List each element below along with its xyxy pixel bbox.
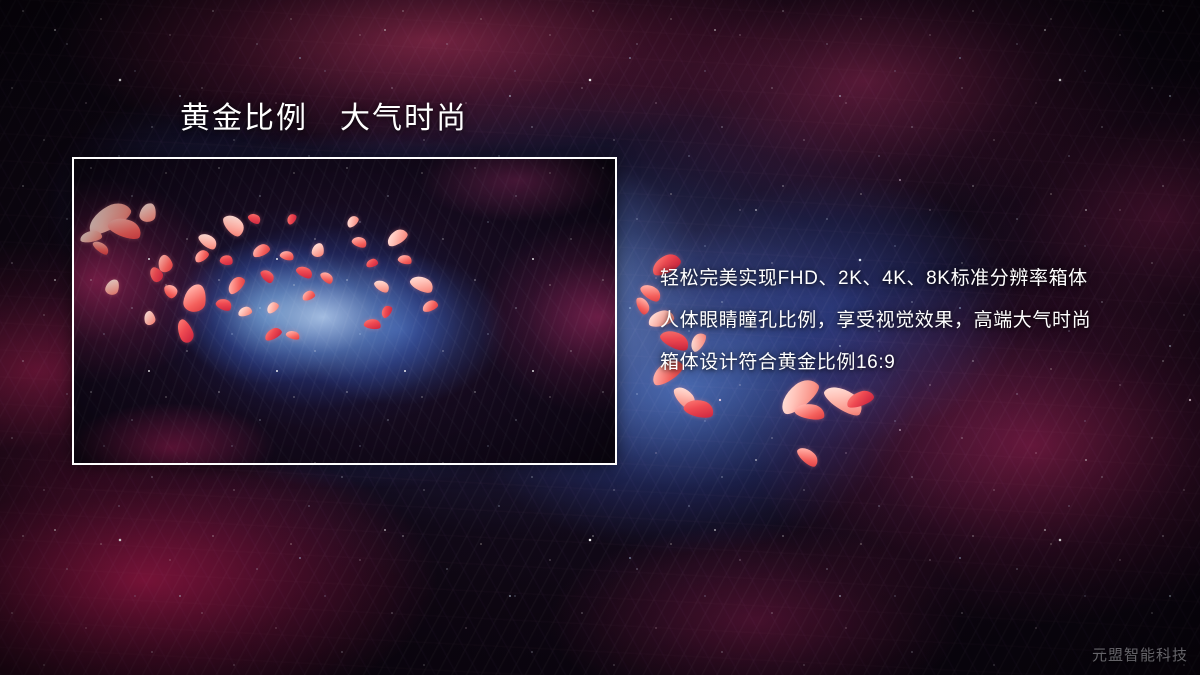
flower-petal bbox=[84, 197, 135, 238]
flower-petal bbox=[247, 211, 263, 226]
flower-petal bbox=[147, 265, 166, 284]
flower-petal bbox=[138, 202, 157, 223]
preview-blue-core bbox=[74, 159, 615, 463]
flower-petal bbox=[220, 211, 247, 240]
flower-petal bbox=[295, 263, 315, 280]
flower-petal bbox=[363, 318, 381, 331]
flower-petal bbox=[259, 267, 276, 285]
preview-filament-wisps bbox=[74, 159, 615, 463]
flower-petal bbox=[384, 226, 410, 248]
flower-petal bbox=[156, 253, 175, 274]
flower-petal bbox=[285, 329, 301, 341]
body-copy-line: 人体眼睛瞳孔比例，享受视觉效果，高端大气时尚 bbox=[660, 300, 1180, 342]
flower-petal bbox=[251, 242, 272, 259]
preview-vignette bbox=[74, 159, 615, 463]
body-copy-block: 轻松完美实现FHD、2K、4K、8K标准分辨率箱体 人体眼睛瞳孔比例，享受视觉效… bbox=[660, 258, 1180, 384]
flower-petal bbox=[345, 214, 361, 229]
flower-petal bbox=[79, 230, 102, 244]
flower-petal bbox=[379, 304, 394, 320]
flower-petal bbox=[162, 282, 179, 300]
preview-base-layer bbox=[74, 159, 615, 463]
preview-image-frame bbox=[72, 157, 617, 465]
flower-petal bbox=[682, 396, 715, 420]
petal-field-inner bbox=[74, 159, 615, 463]
flower-petal bbox=[397, 253, 413, 266]
flower-petal bbox=[182, 283, 208, 314]
flower-petal bbox=[635, 295, 652, 316]
preview-crimson-nebula bbox=[74, 159, 615, 463]
flower-petal bbox=[104, 277, 121, 296]
flower-petal bbox=[821, 380, 867, 420]
flower-petal bbox=[794, 401, 826, 422]
flower-petal bbox=[351, 234, 369, 249]
flower-petal bbox=[671, 383, 699, 413]
body-copy-line: 轻松完美实现FHD、2K、4K、8K标准分辨率箱体 bbox=[660, 258, 1180, 300]
preview-stars bbox=[74, 159, 615, 463]
flower-petal bbox=[106, 213, 144, 242]
flower-petal bbox=[225, 274, 248, 297]
flower-petal bbox=[311, 242, 325, 258]
flower-petal bbox=[319, 269, 335, 285]
flower-petal bbox=[263, 326, 284, 343]
flower-petal bbox=[265, 300, 281, 315]
watermark: 元盟智能科技 bbox=[1092, 644, 1188, 665]
flower-petal bbox=[279, 249, 295, 262]
flower-petal bbox=[285, 212, 298, 226]
flower-petal bbox=[219, 254, 234, 267]
flower-petal bbox=[196, 230, 219, 252]
flower-petal bbox=[174, 317, 197, 345]
flower-petal bbox=[408, 272, 436, 296]
flower-petal bbox=[142, 310, 156, 326]
flower-petal bbox=[91, 238, 111, 256]
flower-petal bbox=[845, 388, 876, 410]
flower-petal bbox=[193, 248, 211, 264]
flower-petal bbox=[373, 277, 392, 294]
flower-petal bbox=[795, 443, 821, 469]
slide-title: 黄金比例 大气时尚 bbox=[180, 101, 468, 137]
flower-petal bbox=[365, 258, 379, 269]
flower-petal bbox=[421, 299, 439, 314]
presentation-slide: 黄金比例 大气时尚 轻松完美实现FHD、2K、4K、8K标准分辨率箱体 人体眼睛… bbox=[0, 0, 1200, 675]
flower-petal bbox=[214, 296, 233, 313]
body-copy-line: 箱体设计符合黄金比例16:9 bbox=[660, 342, 1180, 384]
flower-petal bbox=[237, 306, 253, 318]
flower-petal bbox=[301, 289, 316, 302]
